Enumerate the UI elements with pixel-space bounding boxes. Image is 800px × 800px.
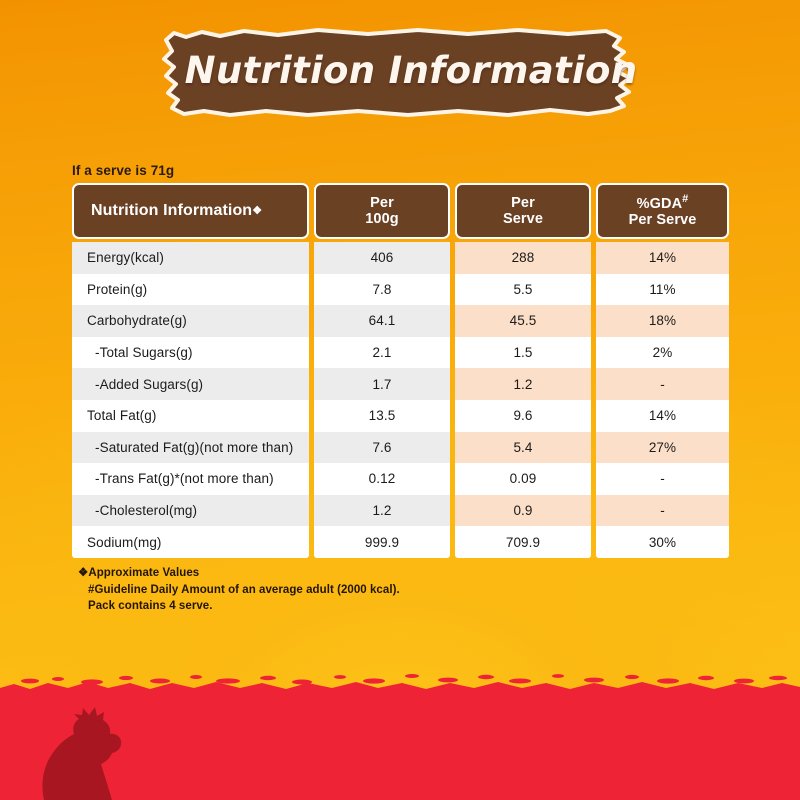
row-value-gda: 2% — [596, 337, 729, 369]
table-row: -Total Sugars(g)2.11.52% — [72, 337, 724, 369]
table-row: Protein(g)7.85.511% — [72, 274, 724, 306]
row-value-per-serve: 1.5 — [455, 337, 591, 369]
torn-red-band-icon — [0, 670, 800, 800]
footnote-gda-definition: #Guideline Daily Amount of an average ad… — [78, 582, 400, 599]
approx-marker-icon: ❖ — [252, 205, 262, 217]
row-value-per-100g: 0.12 — [314, 463, 450, 495]
per-100g-line2: 100g — [365, 211, 398, 227]
row-label: -Cholesterol(mg) — [72, 495, 309, 527]
column-header-nutrition-information: Nutrition Information❖ — [72, 183, 309, 239]
row-label: Carbohydrate(g) — [72, 305, 309, 337]
table-row: -Saturated Fat(g)(not more than)7.65.427… — [72, 432, 724, 464]
table-row: -Added Sugars(g)1.71.2- — [72, 368, 724, 400]
row-value-per-serve: 288 — [455, 242, 591, 274]
footnote-pack-contains: Pack contains 4 serve. — [78, 598, 400, 615]
column-header-label-text: Nutrition Information — [91, 202, 252, 220]
row-value-per-serve: 5.4 — [455, 432, 591, 464]
row-label: Total Fat(g) — [72, 400, 309, 432]
row-label: -Trans Fat(g)*(not more than) — [72, 463, 309, 495]
row-value-per-serve: 0.9 — [455, 495, 591, 527]
row-label: Energy(kcal) — [72, 242, 309, 274]
footnote-approximate-values: Approximate Values — [88, 567, 199, 579]
row-value-per-serve: 45.5 — [455, 305, 591, 337]
row-value-per-100g: 999.9 — [314, 526, 450, 558]
serve-size-note: If a serve is 71g — [72, 163, 174, 178]
row-value-per-100g: 1.7 — [314, 368, 450, 400]
row-value-per-serve: 709.9 — [455, 526, 591, 558]
gda-marker-icon: # — [682, 193, 688, 205]
column-header-gda-per-serve: %GDA# Per Serve — [596, 183, 729, 239]
table-row: -Trans Fat(g)*(not more than)0.120.09- — [72, 463, 724, 495]
row-label: Sodium(mg) — [72, 526, 309, 558]
row-value-per-serve: 9.6 — [455, 400, 591, 432]
row-value-per-100g: 406 — [314, 242, 450, 274]
per-serve-line1: Per — [511, 195, 535, 211]
row-value-per-100g: 7.6 — [314, 432, 450, 464]
row-label: -Total Sugars(g) — [72, 337, 309, 369]
row-value-per-100g: 7.8 — [314, 274, 450, 306]
per-serve-line2: Serve — [503, 211, 543, 227]
row-value-gda: 14% — [596, 242, 729, 274]
table-row: Carbohydrate(g)64.145.518% — [72, 305, 724, 337]
nutrition-table: Nutrition Information❖ Per 100g Per Serv… — [72, 183, 724, 558]
approx-marker-icon: ❖ — [78, 567, 88, 579]
row-value-gda: 18% — [596, 305, 729, 337]
row-value-per-100g: 64.1 — [314, 305, 450, 337]
row-value-gda: - — [596, 495, 729, 527]
bottom-red-band — [0, 670, 800, 800]
row-label: -Saturated Fat(g)(not more than) — [72, 432, 309, 464]
row-value-per-serve: 5.5 — [455, 274, 591, 306]
page-title: Nutrition Information — [158, 26, 658, 118]
torn-edge-speckles — [21, 674, 787, 685]
footnote-line-1: ❖Approximate Values — [78, 565, 400, 582]
row-value-per-100g: 13.5 — [314, 400, 450, 432]
column-header-per-100g: Per 100g — [314, 183, 450, 239]
row-label: -Added Sugars(g) — [72, 368, 309, 400]
row-value-per-serve: 1.2 — [455, 368, 591, 400]
row-value-gda: 30% — [596, 526, 729, 558]
gda-line1: %GDA — [637, 196, 683, 212]
table-header-row: Nutrition Information❖ Per 100g Per Serv… — [72, 183, 724, 239]
table-body: Energy(kcal)40628814%Protein(g)7.85.511%… — [72, 242, 724, 558]
row-value-gda: 14% — [596, 400, 729, 432]
row-value-per-serve: 0.09 — [455, 463, 591, 495]
per-100g-line1: Per — [370, 195, 394, 211]
table-row: Energy(kcal)40628814% — [72, 242, 724, 274]
row-value-gda: - — [596, 463, 729, 495]
row-value-per-100g: 1.2 — [314, 495, 450, 527]
footnotes: ❖Approximate Values #Guideline Daily Amo… — [78, 565, 400, 615]
row-value-gda: - — [596, 368, 729, 400]
page-title-banner: Nutrition Information — [158, 26, 658, 118]
row-label: Protein(g) — [72, 274, 309, 306]
row-value-gda: 11% — [596, 274, 729, 306]
row-value-gda: 27% — [596, 432, 729, 464]
table-row: -Cholesterol(mg)1.20.9- — [72, 495, 724, 527]
table-row: Total Fat(g)13.59.614% — [72, 400, 724, 432]
row-value-per-100g: 2.1 — [314, 337, 450, 369]
column-header-per-serve: Per Serve — [455, 183, 591, 239]
gda-line2: Per Serve — [629, 212, 697, 228]
table-row: Sodium(mg)999.9709.930% — [72, 526, 724, 558]
